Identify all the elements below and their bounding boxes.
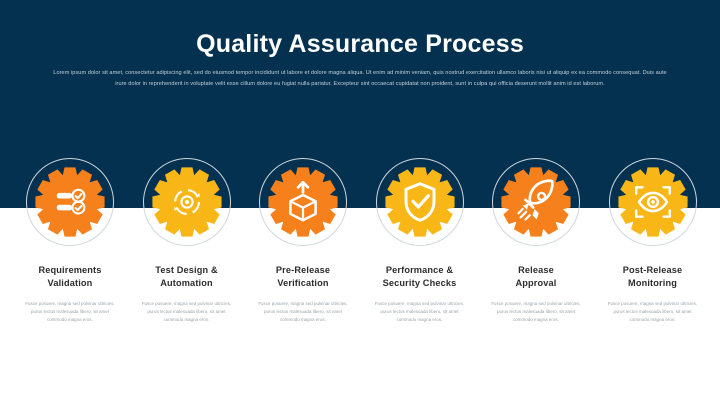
step-title: RequirementsValidation	[10, 264, 130, 291]
step-title: ReleaseApproval	[476, 264, 596, 291]
step-description: Fusce posuere, magna sed pulvinar ultric…	[476, 300, 596, 324]
gear-checklist-icon	[35, 167, 105, 237]
step-ring	[259, 158, 347, 246]
step-labels: RequirementsValidationFusce posuere, mag…	[10, 264, 130, 324]
step-labels: Test Design &AutomationFusce posuere, ma…	[127, 264, 247, 324]
slide-canvas: Quality Assurance Process Lorem ipsum do…	[0, 0, 720, 404]
gear-eye-monitor-icon	[618, 167, 688, 237]
gear-automation-icon	[152, 167, 222, 237]
process-step[interactable]: Pre-ReleaseVerificationFusce posuere, ma…	[243, 158, 363, 324]
process-steps-row: RequirementsValidationFusce posuere, mag…	[0, 0, 720, 404]
process-step[interactable]: ReleaseApprovalFusce posuere, magna sed …	[476, 158, 596, 324]
step-labels: Performance &Security ChecksFusce posuer…	[360, 264, 480, 324]
step-description: Fusce posuere, magna sed pulvinar ultric…	[360, 300, 480, 324]
step-title: Post-ReleaseMonitoring	[593, 264, 713, 291]
gear-shield-check-icon	[385, 167, 455, 237]
gear-rocket-icon	[501, 167, 571, 237]
process-step[interactable]: Post-ReleaseMonitoringFusce posuere, mag…	[593, 158, 713, 324]
process-step[interactable]: RequirementsValidationFusce posuere, mag…	[10, 158, 130, 324]
step-labels: ReleaseApprovalFusce posuere, magna sed …	[476, 264, 596, 324]
step-ring	[376, 158, 464, 246]
step-title: Test Design &Automation	[127, 264, 247, 291]
step-description: Fusce posuere, magna sed pulvinar ultric…	[593, 300, 713, 324]
step-description: Fusce posuere, magna sed pulvinar ultric…	[10, 300, 130, 324]
step-ring	[143, 158, 231, 246]
gear-package-upload-icon	[268, 167, 338, 237]
step-ring	[492, 158, 580, 246]
step-ring	[26, 158, 114, 246]
step-description: Fusce posuere, magna sed pulvinar ultric…	[243, 300, 363, 324]
step-description: Fusce posuere, magna sed pulvinar ultric…	[127, 300, 247, 324]
process-step[interactable]: Test Design &AutomationFusce posuere, ma…	[127, 158, 247, 324]
step-title: Performance &Security Checks	[360, 264, 480, 291]
step-ring	[609, 158, 697, 246]
step-title: Pre-ReleaseVerification	[243, 264, 363, 291]
step-labels: Pre-ReleaseVerificationFusce posuere, ma…	[243, 264, 363, 324]
process-step[interactable]: Performance &Security ChecksFusce posuer…	[360, 158, 480, 324]
step-labels: Post-ReleaseMonitoringFusce posuere, mag…	[593, 264, 713, 324]
